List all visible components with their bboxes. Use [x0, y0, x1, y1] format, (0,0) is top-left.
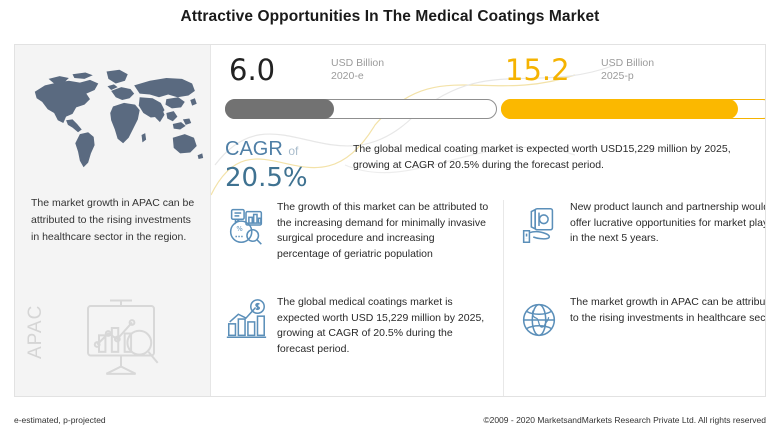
progress-bar-fill-2020	[225, 99, 334, 119]
cagr-block: CAGR of 20.5%	[225, 137, 365, 193]
metric-unit-2025: USD Billion	[601, 57, 654, 70]
progress-bar-2025	[501, 99, 766, 119]
growth-chart-dollar-icon	[223, 297, 269, 343]
feature-text: The market growth in APAC can be attribu…	[570, 295, 766, 326]
cagr-of-label: of	[288, 144, 298, 158]
region-label: APAC	[25, 289, 47, 359]
cagr-percent: 20.5%	[225, 163, 365, 193]
metric-2020: 6.0 USD Billion 2020-e	[225, 51, 497, 95]
feature-item: New product launch and partnership would…	[512, 200, 766, 295]
metric-value-2020: 6.0	[229, 51, 275, 89]
left-panel: The market growth in APAC can be attribu…	[15, 45, 211, 397]
metric-value-2025: 15.2	[505, 51, 570, 89]
hand-holding-money-icon	[516, 202, 562, 248]
footer-note: e-estimated, p-projected	[14, 415, 106, 425]
metric-sub-2020: USD Billion 2020-e	[331, 57, 384, 83]
svg-text:%: %	[236, 225, 242, 233]
metric-period-2020: 2020-e	[331, 70, 384, 83]
world-map-icon	[21, 59, 205, 177]
feature-text: New product launch and partnership would…	[570, 200, 766, 247]
globe-icon	[516, 297, 562, 343]
metric-unit-2020: USD Billion	[331, 57, 384, 70]
progress-bar-2020	[225, 99, 497, 119]
feature-text: The global medical coatings market is ex…	[277, 295, 489, 357]
features-grid: % The growth of this market can be attri…	[211, 200, 766, 397]
cagr-note: The global medical coating market is exp…	[353, 141, 753, 173]
metric-period-2025: 2025-p	[601, 70, 654, 83]
right-area: 6.0 USD Billion 2020-e 15.2 USD	[211, 45, 766, 397]
metric-2025: 15.2 USD Billion 2025-p	[501, 51, 766, 95]
feature-item: The market growth in APAC can be attribu…	[512, 295, 766, 390]
feature-item: % The growth of this market can be attri…	[219, 200, 496, 295]
cagr-label-row: CAGR of	[225, 137, 365, 163]
feature-item: The global medical coatings market is ex…	[219, 295, 496, 390]
infographic-page: Attractive Opportunities In The Medical …	[0, 0, 780, 440]
presentation-chart-magnifier-icon	[75, 295, 167, 383]
metric-sub-2025: USD Billion 2025-p	[601, 57, 654, 83]
page-title: Attractive Opportunities In The Medical …	[0, 8, 780, 26]
progress-bar-fill-2025	[501, 99, 738, 119]
footer-copyright: ©2009 - 2020 MarketsandMarkets Research …	[483, 415, 766, 425]
features-column-left: % The growth of this market can be attri…	[219, 200, 496, 397]
left-panel-text: The market growth in APAC can be attribu…	[31, 195, 199, 246]
feature-text: The growth of this market can be attribu…	[277, 200, 489, 262]
metrics-row: 6.0 USD Billion 2020-e 15.2 USD	[211, 51, 766, 133]
analytics-percent-magnifier-icon: %	[223, 202, 269, 248]
cagr-label: CAGR	[225, 138, 283, 160]
content-card: The market growth in APAC can be attribu…	[14, 44, 766, 397]
features-column-right: New product launch and partnership would…	[503, 200, 766, 397]
